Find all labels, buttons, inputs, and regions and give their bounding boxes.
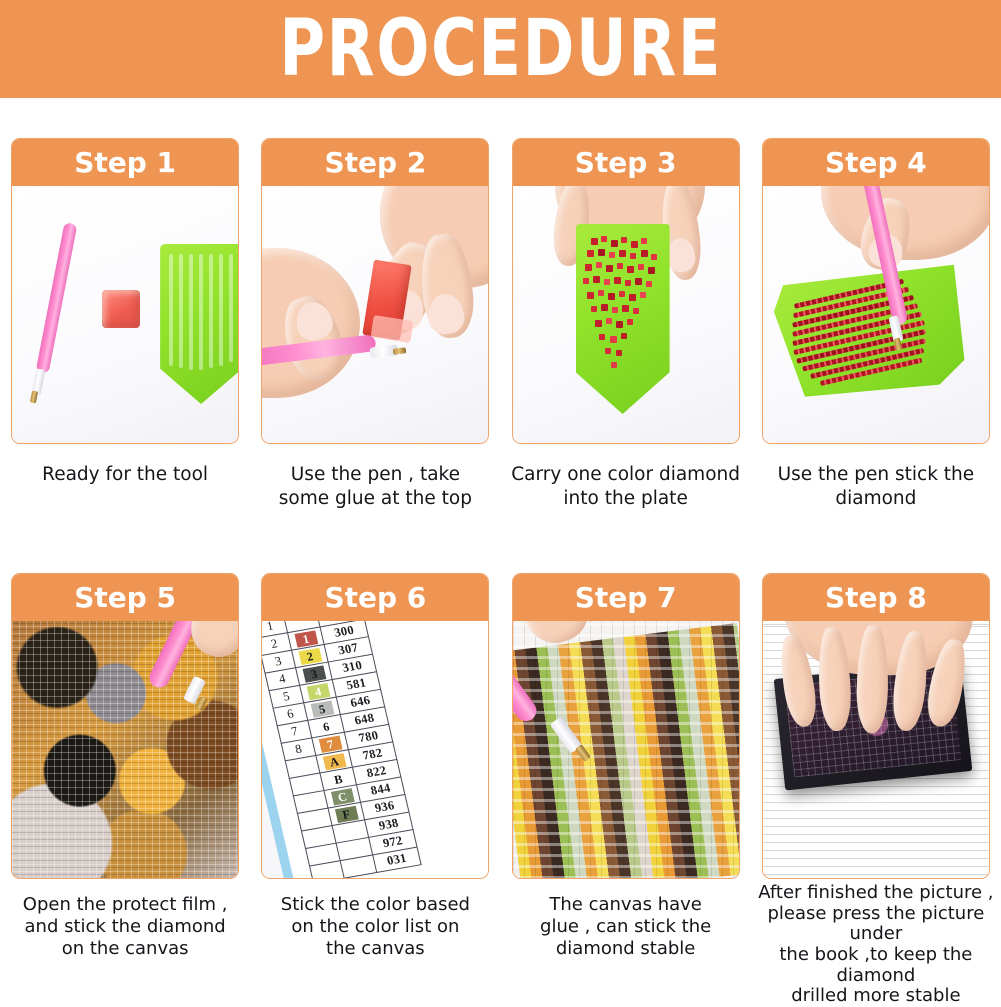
step-caption-6: Stick the color based on the color list … <box>256 894 494 960</box>
bead-sheen <box>513 621 739 879</box>
press-book-scene <box>763 621 989 879</box>
diamond-rows <box>775 253 979 416</box>
step-caption-8: After finished the picture , please pres… <box>751 883 1001 1007</box>
step-header-7: Step 7 <box>513 574 739 621</box>
color-legend-table: No.SymbolDMC1213003230743310545816564676… <box>262 621 422 879</box>
step-header-3: Step 3 <box>513 139 739 186</box>
tray-of-diamonds-scene <box>513 186 739 444</box>
step-card-8[interactable]: Step 8 <box>762 573 990 879</box>
round-diamonds-scene <box>513 621 739 879</box>
red-diamond-pile <box>513 186 739 444</box>
procedure-infographic: PROCEDURE Step 1 <box>0 0 1001 1001</box>
tools-scene <box>12 186 238 444</box>
color-legend-rows: No.SymbolDMC1213003230743310545816564676… <box>262 621 421 879</box>
step-header-4: Step 4 <box>763 139 989 186</box>
green-tray-icon <box>160 244 238 404</box>
step-cell-4: Step 4 <box>751 138 1001 511</box>
diamond-grid-texture <box>12 621 238 879</box>
step-image-1 <box>12 186 238 444</box>
step-header-6: Step 6 <box>262 574 488 621</box>
step-cell-6: Step 6 No.SymbolDMC121300323074331054581… <box>250 573 500 1007</box>
step-caption-5: Open the protect film , and stick the di… <box>6 894 244 960</box>
page-banner: PROCEDURE <box>0 0 1001 98</box>
step-image-8 <box>763 621 989 879</box>
step-header-8: Step 8 <box>763 574 989 621</box>
step-image-3 <box>513 186 739 444</box>
step-card-7[interactable]: Step 7 <box>512 573 740 879</box>
step-cell-7: Step 7 The canvas have glue , can stick … <box>501 573 751 1007</box>
step-image-6: No.SymbolDMC1213003230743310545816564676… <box>262 621 488 879</box>
pen-metal-tip-icon <box>30 391 38 404</box>
step-card-3[interactable]: Step 3 <box>512 138 740 444</box>
pick-diamond-scene <box>763 186 989 444</box>
step-cell-3: Step 3 <box>501 138 751 511</box>
step-image-2 <box>262 186 488 444</box>
step-image-4 <box>763 186 989 444</box>
step-header-1: Step 1 <box>12 139 238 186</box>
color-legend-chart: No.SymbolDMC1213003230743310545816564676… <box>262 621 488 879</box>
step-header-5: Step 5 <box>12 574 238 621</box>
step-caption-4: Use the pen stick the diamond <box>757 463 995 511</box>
pink-pen-icon <box>36 222 78 374</box>
step-card-2[interactable]: Step 2 <box>261 138 489 444</box>
pen-metal-tip-icon <box>393 347 407 355</box>
step-card-5[interactable]: Step 5 <box>11 573 239 879</box>
page-title: PROCEDURE <box>279 10 722 88</box>
step-cell-5: Step 5 Open the protect film , and stick… <box>0 573 250 1007</box>
step-card-1[interactable]: Step 1 <box>11 138 239 444</box>
sunflower-canvas-scene <box>12 621 238 879</box>
step-cell-2: Step 2 <box>250 138 500 511</box>
step-image-7 <box>513 621 739 879</box>
step-header-2: Step 2 <box>262 139 488 186</box>
steps-row-bottom: Step 5 Open the protect film , and stick… <box>0 573 1001 1007</box>
step-cell-1: Step 1 <box>0 138 250 511</box>
glue-dipping-scene <box>262 186 488 444</box>
step-card-6[interactable]: Step 6 No.SymbolDMC121300323074331054581… <box>261 573 489 879</box>
step-cell-8: Step 8 <box>751 573 1001 1007</box>
step-card-4[interactable]: Step 4 <box>762 138 990 444</box>
steps-row-top: Step 1 <box>0 138 1001 511</box>
step-caption-1: Ready for the tool <box>6 463 244 487</box>
step-caption-3: Carry one color diamond into the plate <box>507 463 745 511</box>
chart-sheet: No.SymbolDMC1213003230743310545816564676… <box>262 621 488 879</box>
glue-square-icon <box>102 290 140 328</box>
finger-3-icon <box>856 625 889 734</box>
step-caption-2: Use the pen , take some glue at the top <box>256 463 494 511</box>
step-image-5 <box>12 621 238 879</box>
step-caption-7: The canvas have glue , can stick the dia… <box>507 894 745 960</box>
